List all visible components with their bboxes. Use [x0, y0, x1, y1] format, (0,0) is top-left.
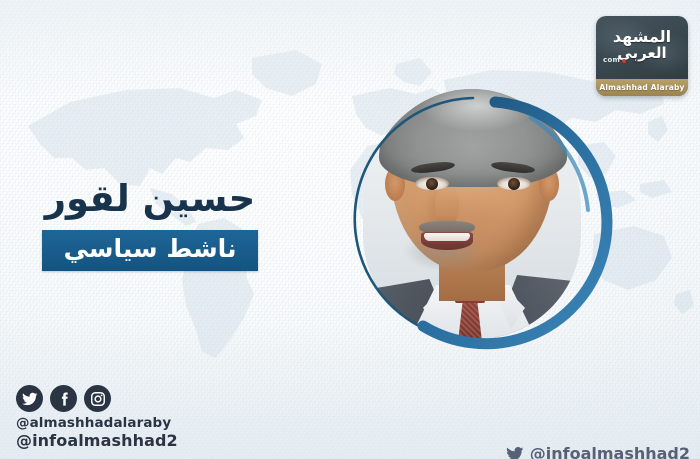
logo-red-dot-icon [622, 59, 626, 63]
handle-primary[interactable]: @almashhadalaraby [16, 416, 178, 432]
handle-secondary[interactable]: @infoalmashhad2 [16, 432, 178, 451]
logo-latin-name: Almashhad Alaraby [599, 83, 684, 92]
portrait-ring [345, 92, 600, 347]
instagram-icon[interactable] [84, 385, 111, 412]
social-icons-row [16, 385, 178, 412]
social-block: @almashhadalaraby @infoalmashhad2 [16, 385, 178, 451]
logo-arabic-line-1: المشهد [596, 28, 688, 45]
identity-block: حسين لقور ناشط سياسي [0, 178, 300, 271]
portrait-area [345, 92, 600, 347]
watermark-twitter-icon [506, 445, 524, 459]
facebook-icon[interactable] [50, 385, 77, 412]
social-handles: @almashhadalaraby @infoalmashhad2 [16, 416, 178, 451]
role-badge-wrapper: ناشط سياسي [0, 230, 300, 272]
brand-logo[interactable]: المشهد العربي com Almashhad Alaraby [596, 16, 688, 96]
promo-card: حسين لقور ناشط سياسي [0, 0, 700, 459]
logo-name-bar: Almashhad Alaraby [596, 79, 688, 96]
twitter-icon[interactable] [16, 385, 43, 412]
logo-com-label: com [603, 56, 620, 64]
person-name: حسين لقور [0, 178, 300, 221]
watermark-handle: @infoalmashhad2 [530, 444, 690, 459]
role-badge: ناشط سياسي [42, 230, 259, 272]
watermark: @infoalmashhad2 [506, 444, 690, 459]
